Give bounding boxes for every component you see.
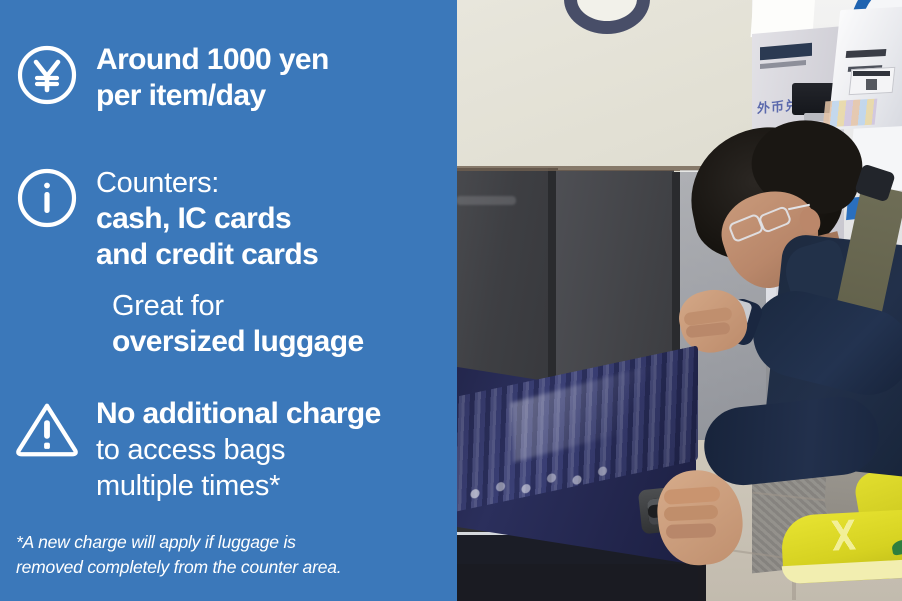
bullet-counters: Counters: cash, IC cards and credit card… bbox=[14, 163, 442, 273]
bullet-oversized-line-2: oversized luggage bbox=[112, 324, 364, 360]
footnote-line-1: *A new charge will apply if luggage is bbox=[16, 530, 436, 555]
placard-title-bar bbox=[853, 71, 890, 76]
bullet-counters-line-2: cash, IC cards bbox=[96, 201, 318, 237]
shoe-laces bbox=[809, 518, 880, 552]
finger-lower-3 bbox=[666, 523, 716, 539]
footnote-line-2: removed completely from the counter area… bbox=[16, 555, 436, 580]
bullet-no-charge-text: No additional charge to access bags mult… bbox=[96, 394, 381, 504]
bullet-no-charge-line-2: to access bags bbox=[96, 432, 381, 468]
info-circle-icon bbox=[14, 165, 80, 231]
bullet-price: Around 1000 yen per item/day bbox=[14, 40, 442, 114]
photo-luggage-counter: 外币兑 bbox=[452, 0, 902, 601]
card-sticker-strip bbox=[823, 99, 878, 128]
bullet-oversized-text: Great for oversized luggage bbox=[112, 286, 364, 360]
panel-edge-sliver bbox=[452, 0, 457, 601]
yen-circle-icon bbox=[14, 42, 80, 108]
bullet-counters-text: Counters: cash, IC cards and credit card… bbox=[96, 163, 318, 273]
counter-smudge-1 bbox=[456, 196, 516, 205]
bullet-no-charge-line-3: multiple times* bbox=[96, 468, 381, 504]
warning-triangle-icon bbox=[14, 396, 80, 462]
bullet-no-charge-line-1: No additional charge bbox=[96, 396, 381, 432]
bullet-oversized-line-1: Great for bbox=[112, 288, 364, 324]
placard-qr-code bbox=[866, 79, 877, 90]
bullet-price-text: Around 1000 yen per item/day bbox=[96, 40, 329, 114]
bullet-counters-line-1: Counters: bbox=[96, 165, 318, 201]
finger-lower-2 bbox=[664, 505, 719, 522]
bullet-price-line-1: Around 1000 yen bbox=[96, 42, 329, 78]
bullet-no-charge: No additional charge to access bags mult… bbox=[14, 394, 442, 504]
footnote: *A new charge will apply if luggage is r… bbox=[16, 530, 436, 580]
poster: Around 1000 yen per item/day Counters: c… bbox=[0, 0, 902, 601]
suitcase-stack-2 bbox=[452, 560, 698, 601]
bullet-price-line-2: per item/day bbox=[96, 78, 329, 114]
bullet-counters-line-3: and credit cards bbox=[96, 237, 318, 273]
bullet-oversized: Great for oversized luggage bbox=[14, 286, 442, 360]
info-panel: Around 1000 yen per item/day Counters: c… bbox=[0, 0, 452, 601]
